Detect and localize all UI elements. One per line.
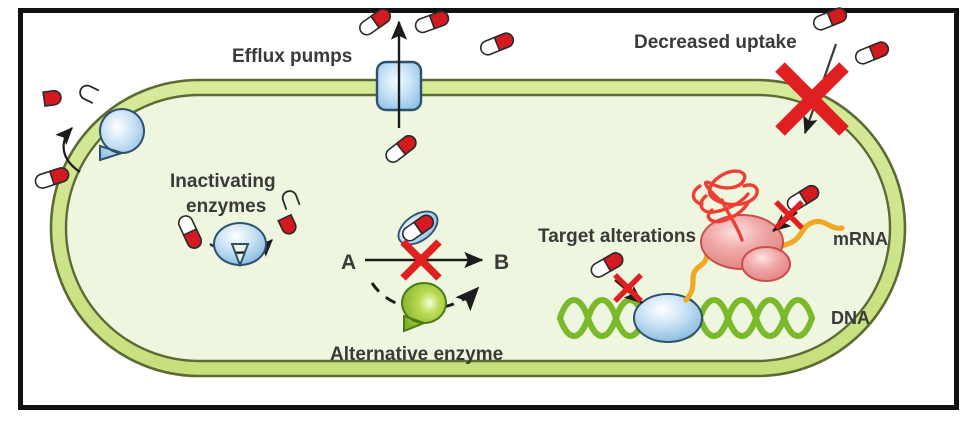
figure-canvas: Efflux pumps Decreased uptake Inactivati… bbox=[0, 0, 975, 426]
label-inactivating-enzymes-line2: enzymes bbox=[186, 196, 266, 217]
label-mrna: mRNA bbox=[833, 229, 888, 249]
label-efflux-pumps: Efflux pumps bbox=[232, 46, 352, 67]
polymerase-icon bbox=[634, 294, 702, 342]
antibiotic-resistance-figure: Efflux pumps Decreased uptake Inactivati… bbox=[0, 0, 975, 426]
label-inactivating-enzymes-line1: Inactivating bbox=[170, 171, 276, 192]
label-substrate-a: A bbox=[341, 251, 356, 274]
label-dna: DNA bbox=[831, 308, 870, 328]
drug-capsule-fragment-icon bbox=[43, 90, 62, 106]
label-alternative-enzyme: Alternative enzyme bbox=[330, 344, 503, 365]
label-product-b: B bbox=[494, 251, 509, 274]
label-decreased-uptake: Decreased uptake bbox=[634, 32, 797, 53]
label-target-alterations: Target alterations bbox=[538, 226, 696, 247]
